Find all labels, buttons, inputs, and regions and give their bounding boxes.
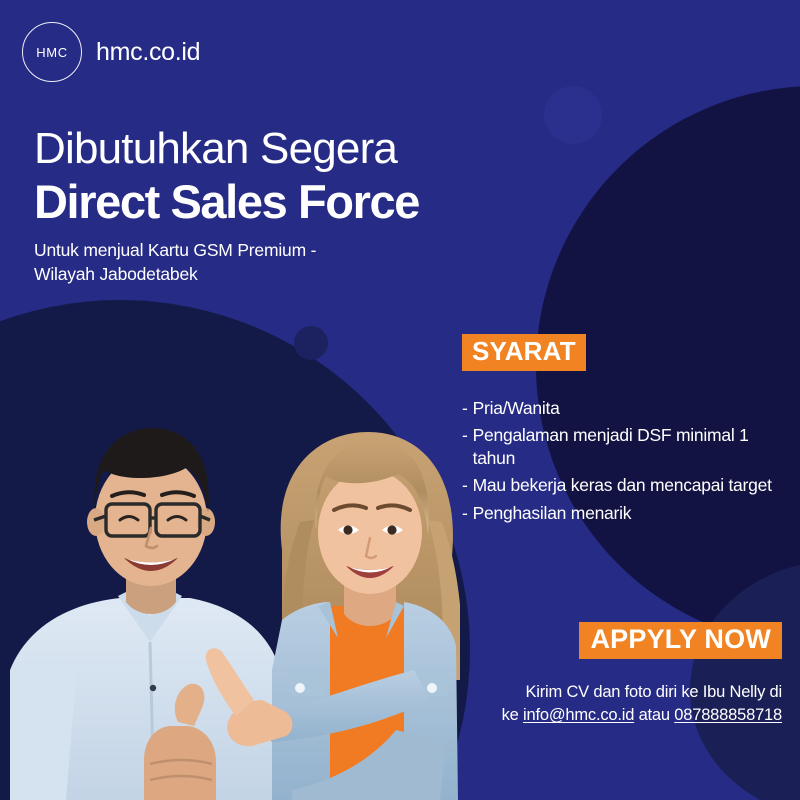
bullet-marker: - — [462, 474, 468, 496]
requirement-item: - Mau bekerja keras dan mencapai target — [462, 474, 782, 496]
bullet-marker: - — [462, 502, 468, 524]
job-title: Direct Sales Force — [34, 177, 419, 227]
contact-line-2: ke info@hmc.co.id atau 087888858718 — [462, 704, 782, 727]
apply-block: APPYLY NOW Kirim CV dan foto diri ke Ibu… — [462, 622, 782, 728]
requirement-text: Pengalaman menjadi DSF minimal 1 tahun — [473, 424, 782, 469]
contact-prefix: ke — [502, 706, 523, 724]
requirement-text: Mau bekerja keras dan mencapai target — [473, 474, 782, 496]
requirements-panel: SYARAT - Pria/Wanita - Pengalaman menjad… — [462, 334, 782, 529]
contact-email[interactable]: info@hmc.co.id — [523, 706, 634, 724]
decorative-dot-left — [294, 326, 328, 360]
requirement-item: - Penghasilan menarik — [462, 502, 782, 524]
apply-now-badge[interactable]: APPYLY NOW — [579, 622, 782, 659]
headline-line-1: Dibutuhkan Segera — [34, 126, 419, 173]
requirements-badge: SYARAT — [462, 334, 586, 371]
people-photo — [0, 370, 460, 800]
requirement-text: Penghasilan menarik — [473, 502, 782, 524]
contact-conjunction: atau — [634, 706, 674, 724]
contact-phone[interactable]: 087888858718 — [674, 706, 782, 724]
headline-subtitle: Untuk menjual Kartu GSM Premium - Wilaya… — [34, 239, 354, 287]
requirement-item: - Pengalaman menjadi DSF minimal 1 tahun — [462, 424, 782, 469]
requirement-text: Pria/Wanita — [473, 397, 782, 419]
requirement-item: - Pria/Wanita — [462, 397, 782, 419]
contact-info: Kirim CV dan foto diri ke Ibu Nelly di k… — [462, 681, 782, 728]
contact-line-1: Kirim CV dan foto diri ke Ibu Nelly di — [462, 681, 782, 704]
bullet-marker: - — [462, 424, 468, 446]
decorative-dot-right — [544, 86, 602, 144]
logo-circle-mark: HMC — [22, 22, 82, 82]
logo-mark-text: HMC — [36, 45, 67, 60]
headline-block: Dibutuhkan Segera Direct Sales Force Unt… — [34, 126, 419, 287]
job-ad-poster: HMC hmc.co.id Dibutuhkan Segera Direct S… — [0, 0, 800, 800]
requirements-list: - Pria/Wanita - Pengalaman menjadi DSF m… — [462, 397, 782, 524]
brand-logo: HMC hmc.co.id — [22, 22, 200, 82]
brand-domain-text: hmc.co.id — [96, 38, 200, 67]
bullet-marker: - — [462, 397, 468, 419]
